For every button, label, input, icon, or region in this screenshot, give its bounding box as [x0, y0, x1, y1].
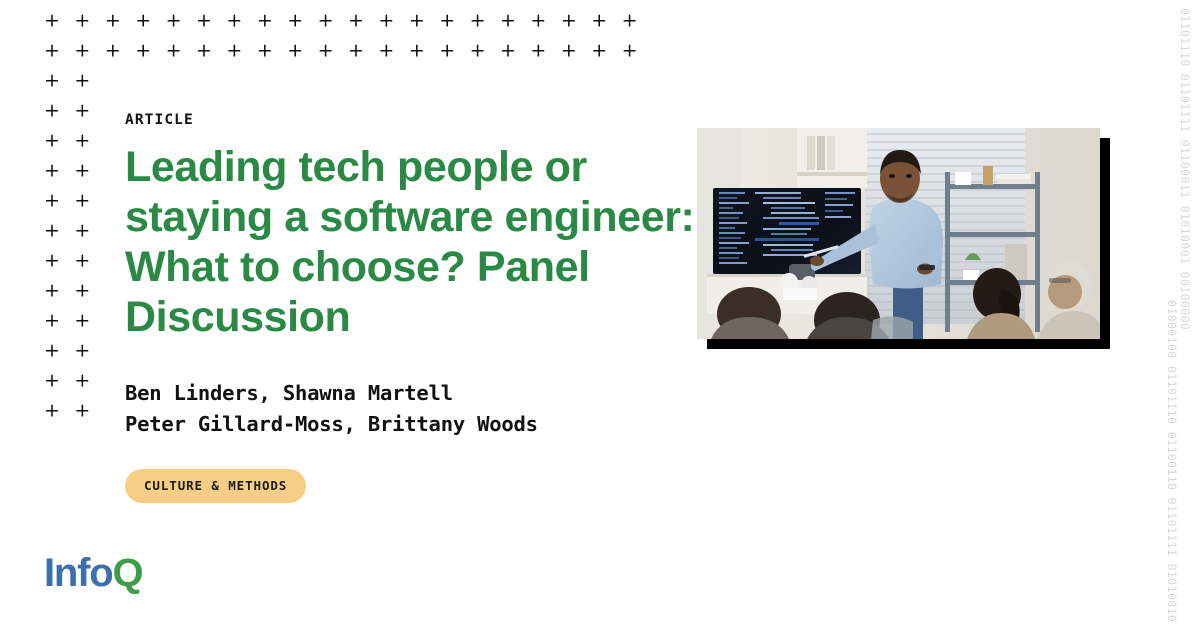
plus-decoration-mark: + — [74, 192, 90, 211]
plus-decoration-mark: + — [439, 12, 455, 31]
plus-decoration-mark: + — [44, 342, 60, 361]
infoq-logo[interactable]: InfoQ — [44, 553, 142, 593]
plus-decoration-mark: + — [378, 42, 394, 61]
plus-decoration-mark: + — [44, 132, 60, 151]
hero-image-container — [697, 128, 1100, 339]
plus-decoration-mark: + — [287, 12, 303, 31]
plus-decoration-mark: + — [166, 42, 182, 61]
plus-decoration-mark: + — [318, 12, 334, 31]
plus-decoration-mark: + — [74, 312, 90, 331]
plus-decoration-mark: + — [74, 342, 90, 361]
plus-decoration-mark: + — [74, 162, 90, 181]
plus-decoration-mark: + — [74, 222, 90, 241]
plus-decoration-mark: + — [74, 42, 90, 61]
plus-decoration-mark: + — [44, 162, 60, 181]
plus-decoration-mark: + — [591, 42, 607, 61]
plus-decoration-mark: + — [378, 12, 394, 31]
plus-decoration-mark: + — [135, 42, 151, 61]
plus-decoration-mark: + — [44, 12, 60, 31]
plus-decoration-mark: + — [74, 252, 90, 271]
topic-badge[interactable]: CULTURE & METHODS — [125, 469, 306, 503]
plus-decoration-mark: + — [287, 42, 303, 61]
plus-decoration-mark: + — [74, 282, 90, 301]
plus-decoration-mark: + — [105, 42, 121, 61]
logo-text-info: Info — [44, 551, 113, 595]
plus-decoration-mark: + — [226, 42, 242, 61]
plus-decoration-mark: + — [561, 42, 577, 61]
plus-decoration-mark: + — [318, 42, 334, 61]
plus-decoration-mark: + — [622, 42, 638, 61]
plus-decoration-mark: + — [44, 252, 60, 271]
plus-decoration-mark: + — [348, 42, 364, 61]
plus-decoration-mark: + — [44, 42, 60, 61]
plus-decoration-mark: + — [44, 282, 60, 301]
plus-decoration-mark: + — [470, 42, 486, 61]
plus-decoration-mark: + — [591, 12, 607, 31]
plus-decoration-mark: + — [105, 12, 121, 31]
plus-decoration-mark: + — [74, 72, 90, 91]
plus-decoration-mark: + — [196, 12, 212, 31]
plus-decoration-mark: + — [409, 42, 425, 61]
plus-decoration-mark: + — [44, 72, 60, 91]
author-list: Ben Linders, Shawna Martell Peter Gillar… — [125, 378, 700, 438]
plus-decoration-mark: + — [166, 12, 182, 31]
binary-text-line-2: 01000100 01101110 01100110 01101111 0101… — [1165, 300, 1179, 630]
article-card: ARTICLE Leading tech people or staying a… — [125, 112, 700, 503]
plus-decoration-mark: + — [74, 132, 90, 151]
hero-image-frame — [697, 128, 1100, 339]
logo-text-q: Q — [113, 551, 143, 595]
plus-decoration-mark: + — [500, 42, 516, 61]
plus-decoration-mark: + — [530, 42, 546, 61]
binary-text-line-1: 01101110 01101111 01100011 01010001 0010… — [1178, 8, 1192, 330]
plus-decoration-mark: + — [530, 12, 546, 31]
plus-decoration-mark: + — [44, 372, 60, 391]
plus-decoration-mark: + — [257, 12, 273, 31]
plus-decoration-mark: + — [74, 12, 90, 31]
plus-decoration-mark: + — [257, 42, 273, 61]
plus-decoration-mark: + — [44, 102, 60, 121]
plus-decoration-mark: + — [44, 192, 60, 211]
plus-decoration-mark: + — [135, 12, 151, 31]
plus-decoration-mark: + — [226, 12, 242, 31]
plus-decoration-mark: + — [561, 12, 577, 31]
plus-decoration-mark: + — [500, 12, 516, 31]
plus-decoration-mark: + — [44, 222, 60, 241]
plus-decoration-mark: + — [74, 372, 90, 391]
plus-decoration-mark: + — [409, 12, 425, 31]
plus-decoration-mark: + — [44, 402, 60, 421]
plus-decoration-mark: + — [348, 12, 364, 31]
plus-decoration-mark: + — [74, 102, 90, 121]
page-title: Leading tech people or staying a softwar… — [125, 142, 700, 342]
plus-decoration-mark: + — [622, 12, 638, 31]
plus-decoration-mark: + — [470, 12, 486, 31]
plus-decoration-mark: + — [44, 312, 60, 331]
hero-photo — [697, 128, 1100, 339]
plus-decoration-mark: + — [439, 42, 455, 61]
content-type-label: ARTICLE — [125, 112, 700, 128]
plus-decoration-mark: + — [74, 402, 90, 421]
plus-decoration-mark: + — [196, 42, 212, 61]
binary-text-decoration: 01101110 01101111 01100011 01010001 0010… — [1162, 0, 1200, 630]
